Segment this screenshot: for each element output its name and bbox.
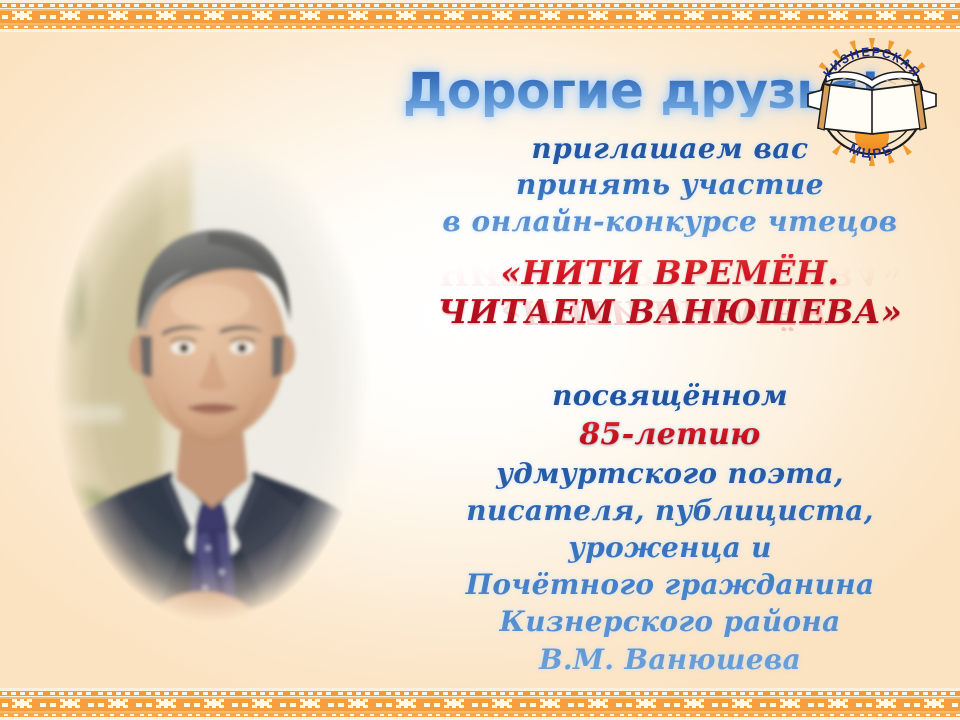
library-logo: КИЗНЕРСКАЯ МЦРБ — [802, 32, 942, 172]
dedication-line-6: Кизнерского района — [380, 603, 960, 640]
contest-title-line-2: ЧИТАЕМ ВАНЮШЕВА» — [380, 293, 960, 332]
contest-title-block: «НИТИ ВРЕМЁН. ЧИТАЕМ ВАНЮШЕВА» «НИТИ ВРЕ… — [380, 254, 960, 331]
contest-title-line-1: «НИТИ ВРЕМЁН. — [380, 254, 960, 293]
dedication-text: посвящённом 85-летию удмуртского поэта, … — [380, 377, 960, 678]
dedication-line-3: писателя, публициста, — [380, 492, 960, 529]
portrait-photo — [42, 136, 382, 656]
invitation-line-2: принять участие — [380, 167, 960, 203]
dedication-line-4: уроженца и — [380, 529, 960, 566]
anniversary-label: 85-летию — [380, 415, 960, 455]
contest-title: «НИТИ ВРЕМЁН. ЧИТАЕМ ВАНЮШЕВА» — [380, 254, 960, 331]
dedication-line-2: удмуртского поэта, — [380, 455, 960, 492]
poster-canvas: КИЗНЕРСКАЯ МЦРБ Дорогие друзья! приглаша… — [0, 0, 960, 720]
dedication-line-5: Почётного гражданина — [380, 566, 960, 603]
portrait-photo-image — [42, 136, 382, 656]
dedication-line-7: В.М. Ванюшева — [380, 641, 960, 678]
udmurt-ornament-bottom-icon — [0, 688, 960, 720]
invitation-line-3: в онлайн-конкурсе чтецов — [380, 204, 960, 240]
udmurt-ornament-top-icon — [0, 0, 960, 32]
dedication-line-1: посвящённом — [380, 377, 960, 414]
